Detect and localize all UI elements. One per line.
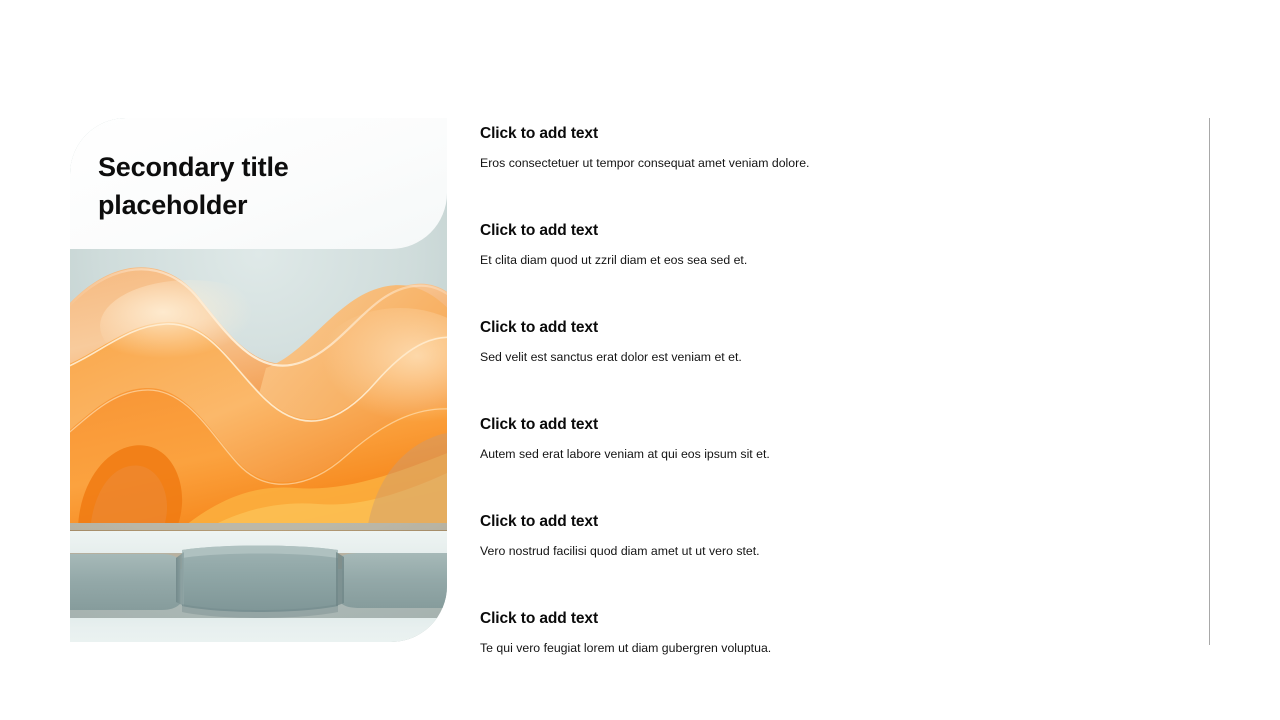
slide-canvas: Secondary title placeholder Click to add… <box>0 0 1280 720</box>
block-body[interactable]: Sed velit est sanctus erat dolor est ven… <box>480 349 1180 365</box>
block-body[interactable]: Te qui vero feugiat lorem ut diam guberg… <box>480 640 1180 656</box>
text-block[interactable]: Click to add text Te qui vero feugiat lo… <box>480 609 1180 656</box>
title-panel: Secondary title placeholder <box>70 118 447 249</box>
block-body[interactable]: Et clita diam quod ut zzril diam et eos … <box>480 252 1180 268</box>
block-body[interactable]: Vero nostrud facilisi quod diam amet ut … <box>480 543 1180 559</box>
content-column: Click to add text Eros consectetuer ut t… <box>480 124 1180 656</box>
block-heading[interactable]: Click to add text <box>480 124 1180 144</box>
text-block[interactable]: Click to add text Sed velit est sanctus … <box>480 318 1180 365</box>
text-block[interactable]: Click to add text Et clita diam quod ut … <box>480 221 1180 268</box>
text-block[interactable]: Click to add text Autem sed erat labore … <box>480 415 1180 462</box>
text-block[interactable]: Click to add text Eros consectetuer ut t… <box>480 124 1180 171</box>
block-heading[interactable]: Click to add text <box>480 512 1180 532</box>
block-body[interactable]: Eros consectetuer ut tempor consequat am… <box>480 155 1180 171</box>
right-vertical-rule <box>1209 118 1210 645</box>
block-heading[interactable]: Click to add text <box>480 221 1180 241</box>
foreground-floor <box>70 618 447 642</box>
block-body[interactable]: Autem sed erat labore veniam at qui eos … <box>480 446 1180 462</box>
media-card[interactable]: Secondary title placeholder <box>70 118 447 642</box>
text-block[interactable]: Click to add text Vero nostrud facilisi … <box>480 512 1180 559</box>
block-heading[interactable]: Click to add text <box>480 609 1180 629</box>
page-title: Secondary title placeholder <box>98 148 398 224</box>
block-heading[interactable]: Click to add text <box>480 318 1180 338</box>
orange-wave-artwork <box>70 248 447 523</box>
block-heading[interactable]: Click to add text <box>480 415 1180 435</box>
